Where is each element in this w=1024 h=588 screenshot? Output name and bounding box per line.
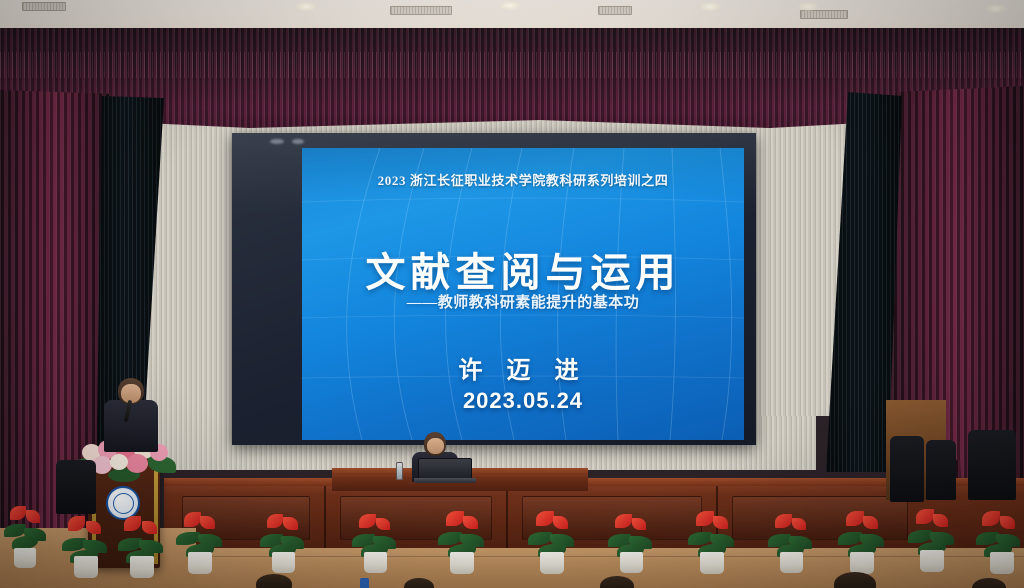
plant-pot <box>188 552 212 574</box>
ceiling-downlight <box>700 2 720 11</box>
slide-subtitle-text: ——教师教科研素能提升的基本功 <box>302 291 744 312</box>
plant-pot <box>74 556 98 578</box>
slide-date-text: 2023.05.24 <box>302 388 744 414</box>
anthurium-foliage <box>4 502 48 550</box>
anthurium-foliage <box>118 512 164 560</box>
ceiling-air-vent <box>800 10 848 19</box>
plant-pot <box>780 552 803 573</box>
curtain-valance-fringe <box>0 52 1024 78</box>
plant-pot <box>620 552 643 573</box>
desk-seam <box>324 486 326 548</box>
stage-chair-left[interactable] <box>56 460 96 514</box>
anthurium-foliage <box>688 508 736 556</box>
plant-pot <box>850 552 874 574</box>
slide-header-text: 2023 浙江长征职业技术学院教科研系列培训之四 <box>302 170 744 189</box>
plant-pot <box>130 556 154 578</box>
plant-pot <box>364 552 387 573</box>
audience-head <box>256 574 292 588</box>
plant-pot <box>920 550 944 572</box>
plant-pot <box>14 548 36 568</box>
bouquet-bloom <box>126 454 148 473</box>
anthurium-foliage <box>976 508 1022 556</box>
anthurium-foliage <box>438 508 486 556</box>
presenter-laptop-screen <box>418 458 472 480</box>
desk-seam <box>506 486 508 548</box>
plant-pot <box>540 552 564 574</box>
anthurium-foliage <box>768 510 814 556</box>
plant-pot <box>700 552 724 574</box>
plant-pot <box>450 552 474 574</box>
ceiling-downlight <box>986 4 1006 13</box>
ceiling-downlight <box>296 2 316 11</box>
ceiling-downlight <box>798 2 818 11</box>
ceiling-air-vent <box>390 6 452 15</box>
anthurium-foliage <box>352 510 398 556</box>
podium-speaker-body <box>104 400 158 452</box>
stage-chair[interactable] <box>968 430 1016 500</box>
bouquet-bloom <box>110 454 128 470</box>
audience-bottle <box>360 578 369 588</box>
presentation-slide: 2023 浙江长征职业技术学院教科研系列培训之四 文献查阅与运用 ——教师教科研… <box>302 148 744 440</box>
anthurium-foliage <box>260 510 306 556</box>
anthurium-foliage <box>528 508 576 556</box>
slide-title-text: 文献查阅与运用 <box>302 240 744 298</box>
desk-presenter-face <box>427 438 444 454</box>
plant-pot <box>272 552 295 573</box>
anthurium-foliage <box>176 508 224 556</box>
anthurium-foliage <box>62 512 108 560</box>
podium-emblem-ring <box>113 493 134 514</box>
slide-speaker-name: 许 迈 进 <box>302 350 744 385</box>
anthurium-foliage <box>608 510 654 556</box>
ceiling-downlight <box>500 1 520 10</box>
screen-glint <box>292 139 304 144</box>
ceiling-air-vent <box>22 2 66 11</box>
stage-chair[interactable] <box>890 436 924 502</box>
lecture-hall-scene: 2023 浙江长征职业技术学院教科研系列培训之四 文献查阅与运用 ——教师教科研… <box>0 0 1024 588</box>
presenter-laptop-base <box>414 478 476 483</box>
desk-water-bottle <box>396 462 403 480</box>
anthurium-foliage <box>838 508 886 556</box>
ceiling-air-vent <box>598 6 632 15</box>
anthurium-foliage <box>908 506 956 554</box>
stage-chair[interactable] <box>926 440 956 500</box>
screen-glint <box>270 139 284 144</box>
plant-pot <box>990 552 1014 574</box>
